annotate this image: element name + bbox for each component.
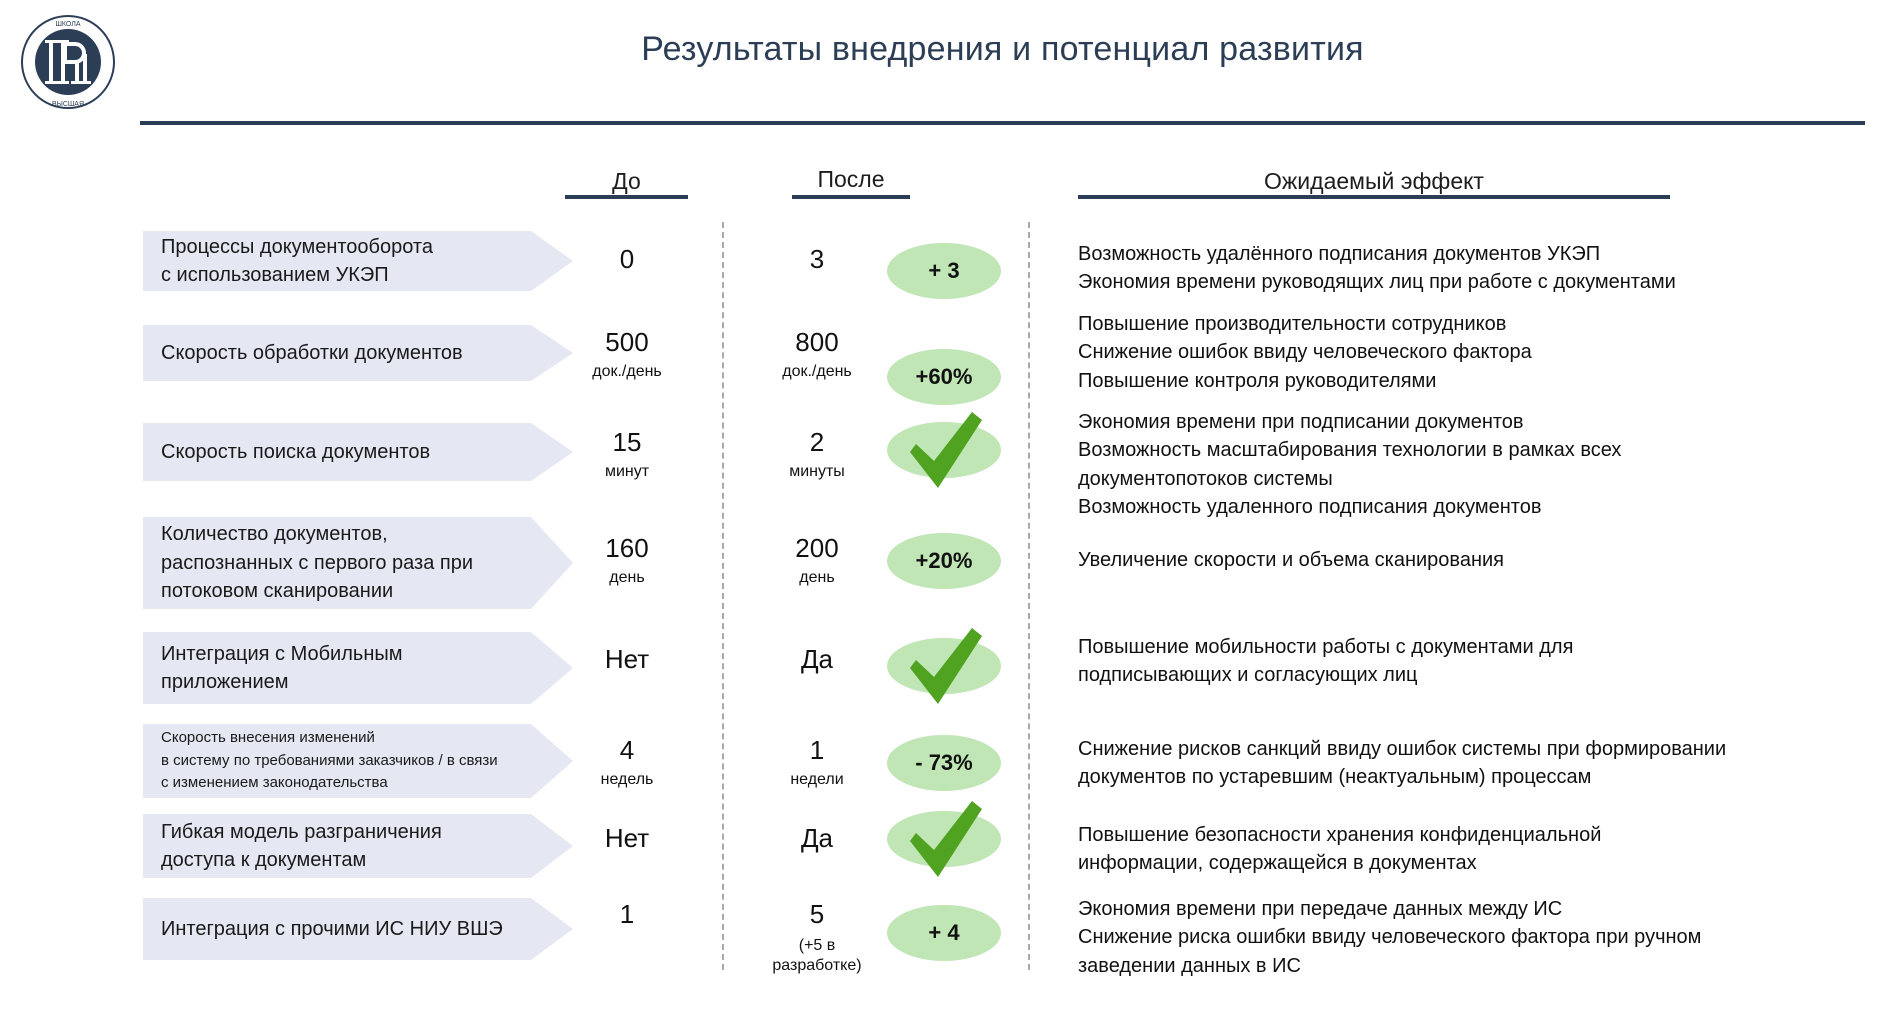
metric-label: Количество документов,распознанных с пер… <box>143 517 573 609</box>
before-value-cell-value: 1 <box>562 900 692 929</box>
effect-line: Повышение производительности сотрудников <box>1078 310 1532 338</box>
after-value-cell-unit: недели <box>752 770 882 790</box>
metric-label-line: распознанных с первого раза при <box>161 549 473 577</box>
after-value-cell-note-line: разработке) <box>752 956 882 976</box>
after-value-cell-value: 800 <box>752 328 882 357</box>
before-value-cell-value: Нет <box>562 824 692 853</box>
metric-label-text: Скорость поиска документов <box>161 438 430 466</box>
after-value-cell-unit: день <box>752 568 882 588</box>
result-badge: +60% <box>887 349 1001 405</box>
result-badge-check <box>887 811 1001 867</box>
result-badge-check <box>887 422 1001 478</box>
effect-line: Повышение безопасности хранения конфиден… <box>1078 821 1601 849</box>
column-header-before-underline <box>565 195 688 199</box>
after-value-cell: Да <box>752 824 882 853</box>
effect-text: Экономия времени при подписании документ… <box>1078 408 1621 522</box>
effect-line: информации, содержащейся в документах <box>1078 849 1601 877</box>
metric-label-line: в систему по требованиями заказчиков / в… <box>161 750 498 773</box>
metric-label: Скорость внесения измененийв систему по … <box>143 724 573 798</box>
effect-line: Экономия времени при подписании документ… <box>1078 408 1621 436</box>
metric-label-line: Интеграция с прочими ИС НИУ ВШЭ <box>161 915 503 943</box>
after-value-cell: 1недели <box>752 736 882 790</box>
effect-text: Возможность удалённого подписания докуме… <box>1078 240 1676 297</box>
effect-text: Повышение безопасности хранения конфиден… <box>1078 821 1601 878</box>
after-value-cell-note: (+5 вразработке) <box>752 936 882 976</box>
metric-label-line: Процессы документооборота <box>161 233 433 261</box>
effect-line: документопотоков системы <box>1078 465 1621 493</box>
before-value-cell: 0 <box>562 245 692 274</box>
after-value-cell-value: 3 <box>752 245 882 274</box>
column-header-effect: Ожидаемый эффект <box>1078 168 1670 195</box>
before-value-cell: Нет <box>562 645 692 674</box>
result-badge-text: - 73% <box>915 750 972 776</box>
metric-label-line: доступа к документам <box>161 846 442 874</box>
before-value-cell: 4недель <box>562 736 692 790</box>
result-badge: + 4 <box>887 905 1001 961</box>
after-value-cell: Да <box>752 645 882 674</box>
effect-text: Экономия времени при передаче данных меж… <box>1078 895 1701 980</box>
before-value-cell-unit: док./день <box>562 362 692 382</box>
after-value-cell: 2минуты <box>752 428 882 482</box>
before-value-cell: 15минут <box>562 428 692 482</box>
after-value-cell-unit: док./день <box>752 362 882 382</box>
effect-line: Повышение мобильности работы с документа… <box>1078 633 1573 661</box>
hse-logo: ШКОЛА ВЫСШАЯ <box>20 14 116 110</box>
metric-label-line: Гибкая модель разграничения <box>161 818 442 846</box>
effect-text: Увеличение скорости и объема сканировани… <box>1078 546 1504 574</box>
metric-label-line: Скорость обработки документов <box>161 339 463 367</box>
before-value-cell-unit: минут <box>562 462 692 482</box>
after-value-cell-value: Да <box>752 645 882 674</box>
before-value-cell: 1 <box>562 900 692 929</box>
effect-line: подписывающих и согласующих лиц <box>1078 661 1573 689</box>
effect-text: Снижение рисков санкций ввиду ошибок сис… <box>1078 735 1726 792</box>
metric-label-line: приложением <box>161 668 402 696</box>
metric-label-text: Интеграция с прочими ИС НИУ ВШЭ <box>161 915 503 943</box>
metric-label-text: Скорость внесения измененийв систему по … <box>161 727 498 795</box>
after-value-cell-value: 2 <box>752 428 882 457</box>
result-badge-text: +60% <box>916 364 973 390</box>
metric-label: Гибкая модель разграничениядоступа к док… <box>143 814 573 878</box>
before-value-cell-value: 500 <box>562 328 692 357</box>
metric-label-line: потоковом сканировании <box>161 577 473 605</box>
metric-label-line: Количество документов, <box>161 520 473 548</box>
before-value-cell-value: 0 <box>562 245 692 274</box>
result-badge-text: +20% <box>916 548 973 574</box>
effect-line: документов по устаревшим (неактуальным) … <box>1078 763 1726 791</box>
svg-text:ШКОЛА: ШКОЛА <box>55 21 80 28</box>
metric-label-line: с использованием УКЭП <box>161 261 433 289</box>
title-divider <box>140 121 1865 125</box>
dashed-separator-right <box>1028 222 1030 970</box>
metric-label-text: Гибкая модель разграничениядоступа к док… <box>161 818 442 875</box>
column-header-after: После <box>792 166 910 193</box>
effect-line: Экономия времени руководящих лиц при раб… <box>1078 268 1676 296</box>
after-value-cell: 3 <box>752 245 882 274</box>
after-value-cell-note-line: (+5 в <box>752 936 882 956</box>
after-value-cell: 200день <box>752 534 882 588</box>
effect-line: Экономия времени при передаче данных меж… <box>1078 895 1701 923</box>
metric-label: Интеграция с прочими ИС НИУ ВШЭ <box>143 898 573 960</box>
metric-label-text: Интеграция с Мобильнымприложением <box>161 640 402 697</box>
metric-label-text: Процессы документооборотас использование… <box>161 233 433 290</box>
result-badge: +20% <box>887 533 1001 589</box>
effect-line: Снижение ошибок ввиду человеческого факт… <box>1078 338 1532 366</box>
metric-label: Скорость поиска документов <box>143 423 573 481</box>
metric-label-line: с изменением законодательства <box>161 772 498 795</box>
column-header-after-underline <box>792 195 910 199</box>
effect-line: Возможность удалённого подписания докуме… <box>1078 240 1676 268</box>
effect-text: Повышение мобильности работы с документа… <box>1078 633 1573 690</box>
effect-text: Повышение производительности сотрудников… <box>1078 310 1532 395</box>
effect-line: Снижение риска ошибки ввиду человеческог… <box>1078 923 1701 951</box>
metric-label: Интеграция с Мобильнымприложением <box>143 632 573 704</box>
check-icon <box>896 622 992 710</box>
result-badge: - 73% <box>887 735 1001 791</box>
result-badge: + 3 <box>887 243 1001 299</box>
effect-line: Возможность масштабирования технологии в… <box>1078 436 1621 464</box>
effect-line: Увеличение скорости и объема сканировани… <box>1078 546 1504 574</box>
before-value-cell: 160день <box>562 534 692 588</box>
column-header-effect-underline <box>1078 195 1670 199</box>
before-value-cell-value: 4 <box>562 736 692 765</box>
effect-line: Повышение контроля руководителями <box>1078 367 1532 395</box>
before-value-cell-unit: день <box>562 568 692 588</box>
before-value-cell-unit: недель <box>562 770 692 790</box>
after-value-cell-value: 5 <box>752 900 882 929</box>
effect-line: заведении данных в ИС <box>1078 952 1701 980</box>
result-badge-check <box>887 638 1001 694</box>
metric-label-text: Количество документов,распознанных с пер… <box>161 520 473 605</box>
after-value-cell: 800док./день <box>752 328 882 382</box>
after-value-cell-value: Да <box>752 824 882 853</box>
metric-label-line: Скорость поиска документов <box>161 438 430 466</box>
after-value-cell: 5(+5 вразработке) <box>752 900 882 976</box>
metric-label: Скорость обработки документов <box>143 325 573 381</box>
effect-line: Возможность удаленного подписания докуме… <box>1078 493 1621 521</box>
dashed-separator-left <box>722 222 724 970</box>
effect-line: Снижение рисков санкций ввиду ошибок сис… <box>1078 735 1726 763</box>
metric-label-line: Скорость внесения изменений <box>161 727 498 750</box>
result-badge-text: + 4 <box>928 920 959 946</box>
after-value-cell-value: 200 <box>752 534 882 563</box>
after-value-cell-value: 1 <box>752 736 882 765</box>
before-value-cell: 500док./день <box>562 328 692 382</box>
metric-label-line: Интеграция с Мобильным <box>161 640 402 668</box>
check-icon <box>896 795 992 883</box>
result-badge-text: + 3 <box>928 258 959 284</box>
before-value-cell-value: 15 <box>562 428 692 457</box>
column-header-before: До <box>565 168 688 195</box>
metric-label-text: Скорость обработки документов <box>161 339 463 367</box>
before-value-cell-value: 160 <box>562 534 692 563</box>
after-value-cell-unit: минуты <box>752 462 882 482</box>
svg-text:ВЫСШАЯ: ВЫСШАЯ <box>52 101 84 108</box>
metric-label: Процессы документооборотас использование… <box>143 231 573 291</box>
before-value-cell: Нет <box>562 824 692 853</box>
page-title: Результаты внедрения и потенциал развити… <box>140 30 1865 69</box>
before-value-cell-value: Нет <box>562 645 692 674</box>
check-icon <box>896 406 992 494</box>
